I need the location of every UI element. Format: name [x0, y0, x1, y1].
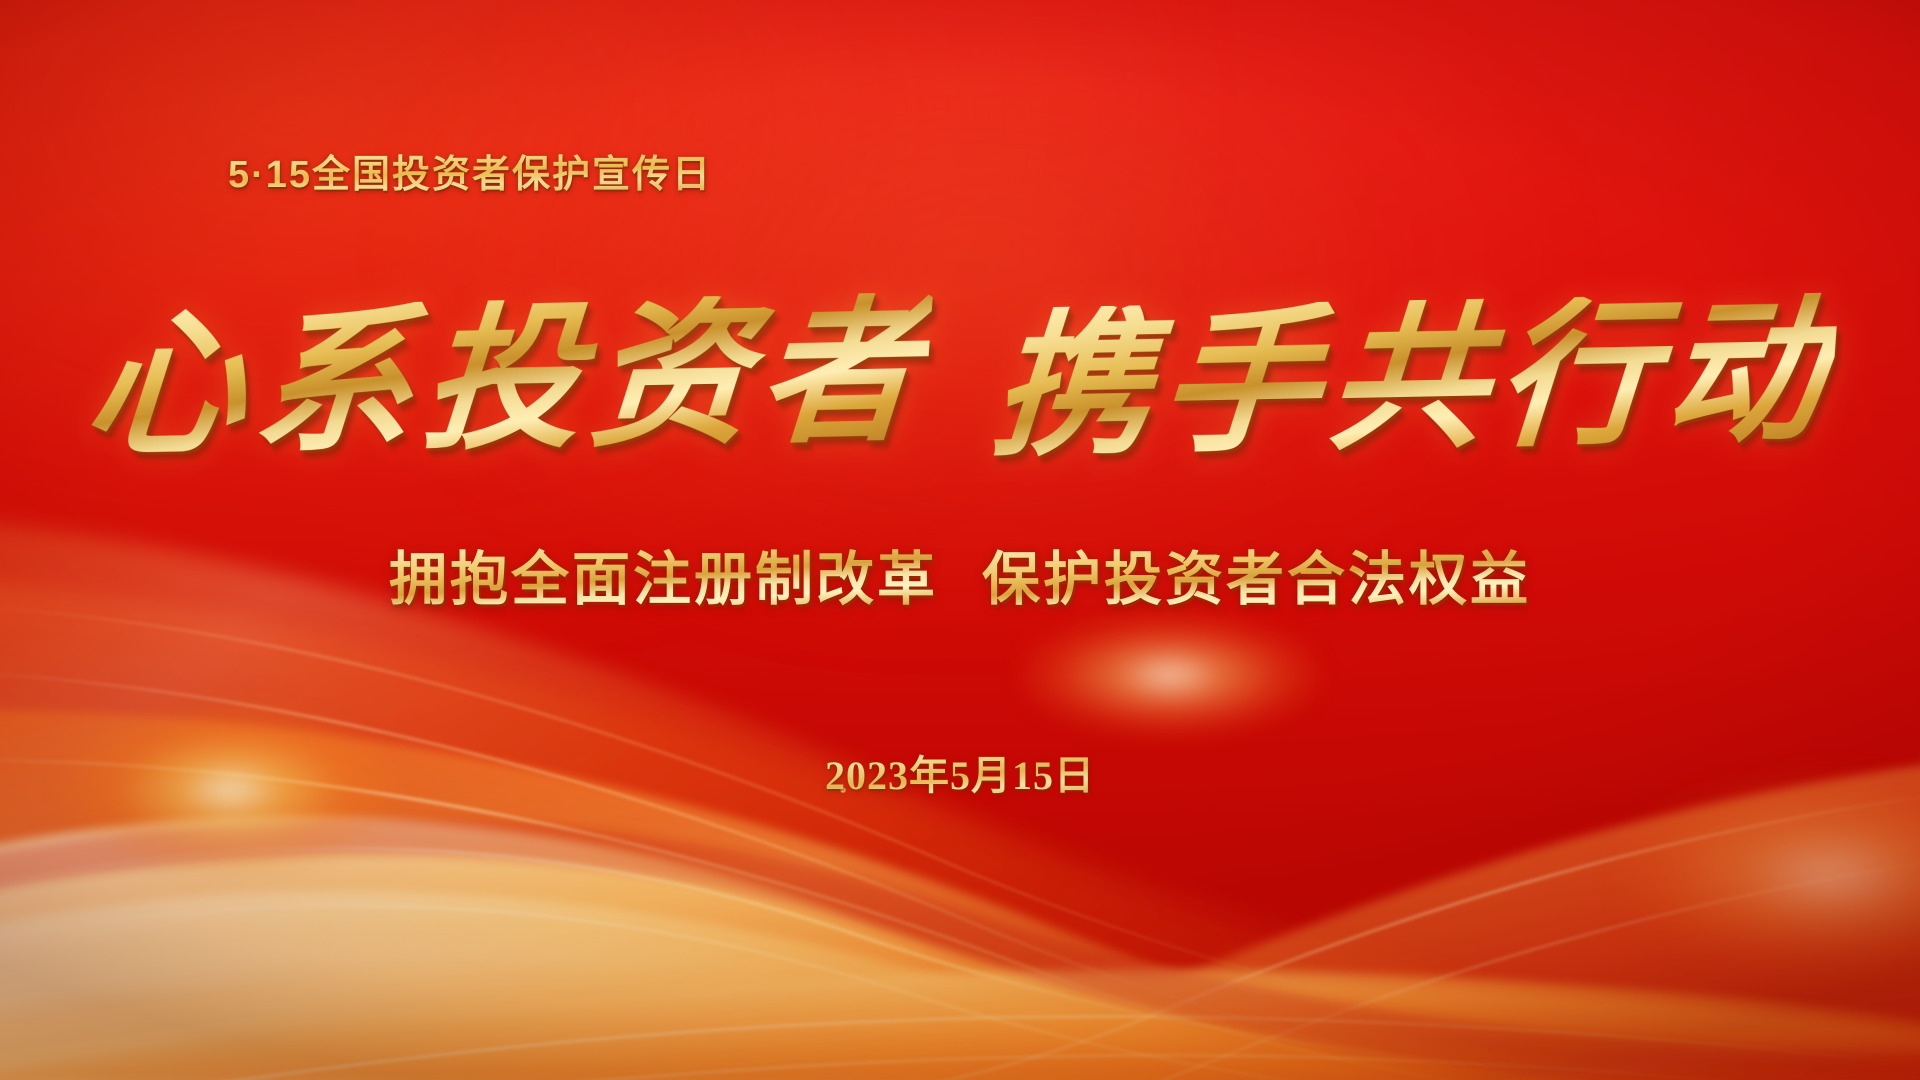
event-kicker-label: 5·15全国投资者保护宣传日: [228, 143, 712, 198]
poster-content: 5·15全国投资者保护宣传日 心系投资者携手共行动 拥抱全面注册制改革保护投资者…: [0, 0, 1920, 1080]
slogan-line: 拥抱全面注册制改革保护投资者合法权益: [0, 532, 1920, 616]
slogan-part-left: 拥抱全面注册制改革: [389, 532, 938, 616]
slogan-part-right: 保护投资者合法权益: [982, 532, 1531, 616]
headline-segment-left: 心系投资者: [81, 292, 933, 466]
headline-calligraphy: 心系投资者携手共行动: [0, 300, 1920, 458]
event-date: 2023年5月15日: [0, 743, 1920, 801]
event-date-text: 2023年5月15日: [825, 743, 1095, 801]
headline-segment-right: 携手共行动: [987, 292, 1839, 466]
poster-canvas: 5·15全国投资者保护宣传日 心系投资者携手共行动 拥抱全面注册制改革保护投资者…: [0, 0, 1920, 1080]
